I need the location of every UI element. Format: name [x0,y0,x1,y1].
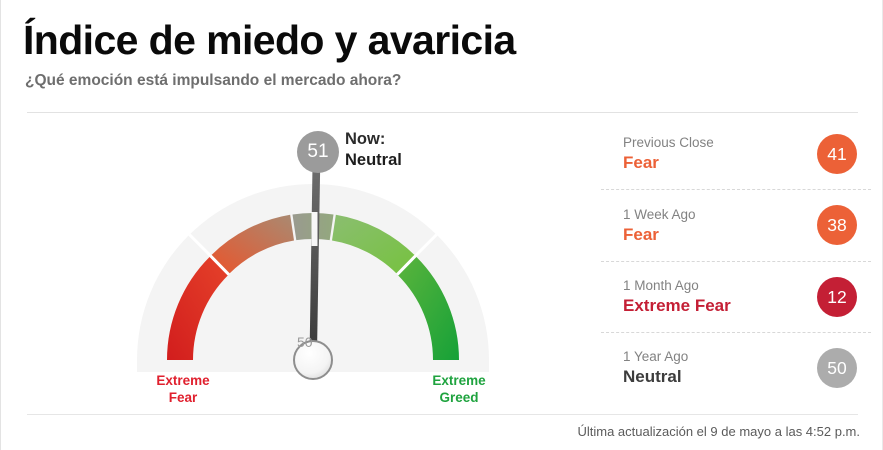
current-state-label: Now: Neutral [345,129,402,171]
history-row-state: Fear [623,152,714,174]
history-panel: Previous CloseFear411 Week AgoFear381 Mo… [601,118,871,403]
history-row-badge: 41 [817,134,857,174]
history-row[interactable]: 1 Week AgoFear38 [601,189,871,260]
history-row-when: 1 Week Ago [623,205,696,224]
page-subtitle: ¿Qué emoción está impulsando el mercado … [25,72,401,90]
fear-greed-widget: Índice de miedo y avaricia ¿Qué emoción … [0,0,883,450]
history-row[interactable]: 1 Year AgoNeutral50 [601,332,871,403]
history-row-text: 1 Month AgoExtreme Fear [601,276,731,317]
history-row-badge: 12 [817,277,857,317]
page-title: Índice de miedo y avaricia [23,16,516,64]
history-row-when: 1 Year Ago [623,347,688,366]
gauge-label-extreme-fear: Extreme Fear [131,372,235,406]
history-row-badge: 50 [817,348,857,388]
needle-arc-cut [312,212,318,246]
history-row-when: 1 Month Ago [623,276,731,295]
history-row-badge: 38 [817,205,857,245]
footer-divider [27,414,858,415]
history-row-state: Extreme Fear [623,295,731,317]
current-value-badge: 51 [297,131,339,173]
now-prefix: Now: [345,129,402,150]
history-row[interactable]: 1 Month AgoExtreme Fear12 [601,261,871,332]
fear-greed-gauge: 51 Now: Neutral 0 50 100 Extreme Fear Ex… [131,120,511,410]
history-row-text: Previous CloseFear [601,133,714,174]
gauge-label-extreme-greed: Extreme Greed [407,372,511,406]
extreme-greed-line2: Greed [407,389,511,406]
now-state: Neutral [345,150,402,171]
header-divider [27,112,858,113]
history-row-when: Previous Close [623,133,714,152]
gauge-tick-50: 50 [297,334,313,350]
history-row[interactable]: Previous CloseFear41 [601,118,871,189]
history-row-text: 1 Year AgoNeutral [601,347,688,388]
last-updated-text: Última actualización el 9 de mayo a las … [577,424,860,439]
extreme-greed-line1: Extreme [407,372,511,389]
history-row-text: 1 Week AgoFear [601,205,696,246]
history-row-state: Neutral [623,366,688,388]
extreme-fear-line1: Extreme [131,372,235,389]
history-row-state: Fear [623,224,696,246]
extreme-fear-line2: Fear [131,389,235,406]
